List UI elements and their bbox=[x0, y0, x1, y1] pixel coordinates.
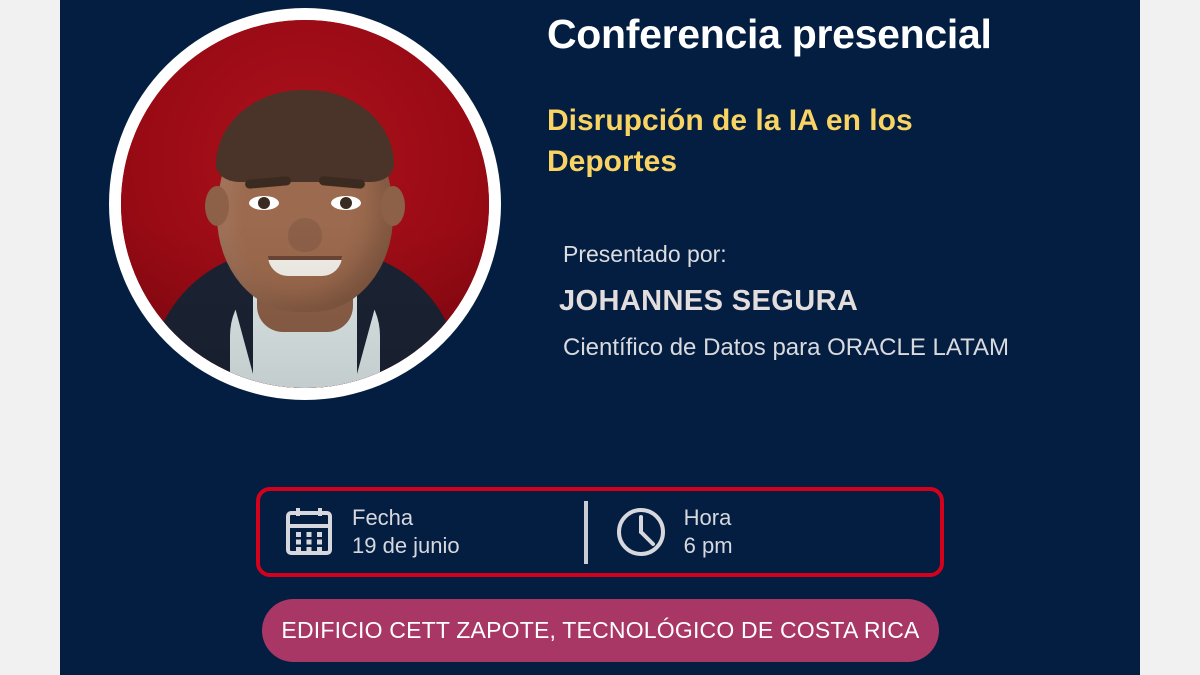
portrait-eye-right bbox=[331, 196, 361, 210]
time-texts: Hora 6 pm bbox=[684, 504, 733, 560]
vertical-divider bbox=[584, 501, 588, 564]
date-label: Fecha bbox=[352, 504, 460, 532]
date-value: 19 de junio bbox=[352, 532, 460, 560]
portrait-ear-right bbox=[381, 186, 405, 226]
speaker-role: Científico de Datos para ORACLE LATAM bbox=[563, 334, 1009, 362]
speaker-photo-frame bbox=[109, 8, 501, 400]
portrait-smile bbox=[268, 256, 342, 276]
portrait-ear-left bbox=[205, 186, 229, 226]
date-group: Fecha 19 de junio bbox=[280, 503, 460, 561]
page-subtitle: Disrupción de la IA en los Deportes bbox=[547, 100, 967, 183]
event-poster: Conferencia presencial Disrupción de la … bbox=[0, 0, 1200, 675]
page-title: Conferencia presencial bbox=[547, 12, 1092, 58]
datetime-box: Fecha 19 de junio Hora 6 pm bbox=[256, 487, 944, 577]
date-texts: Fecha 19 de junio bbox=[352, 504, 460, 560]
time-label: Hora bbox=[684, 504, 733, 532]
time-group: Hora 6 pm bbox=[612, 503, 733, 561]
speaker-name: JOHANNES SEGURA bbox=[559, 285, 858, 318]
clock-icon bbox=[612, 503, 670, 561]
speaker-portrait bbox=[121, 20, 489, 388]
presented-by-label: Presentado por: bbox=[563, 241, 727, 268]
portrait-eye-left bbox=[249, 196, 279, 210]
poster-panel: Conferencia presencial Disrupción de la … bbox=[60, 0, 1140, 675]
location-banner: EDIFICIO CETT ZAPOTE, TECNOLÓGICO DE COS… bbox=[262, 599, 939, 662]
portrait-nose bbox=[288, 218, 322, 252]
location-text: EDIFICIO CETT ZAPOTE, TECNOLÓGICO DE COS… bbox=[281, 617, 919, 644]
calendar-icon bbox=[280, 503, 338, 561]
time-value: 6 pm bbox=[684, 532, 733, 560]
